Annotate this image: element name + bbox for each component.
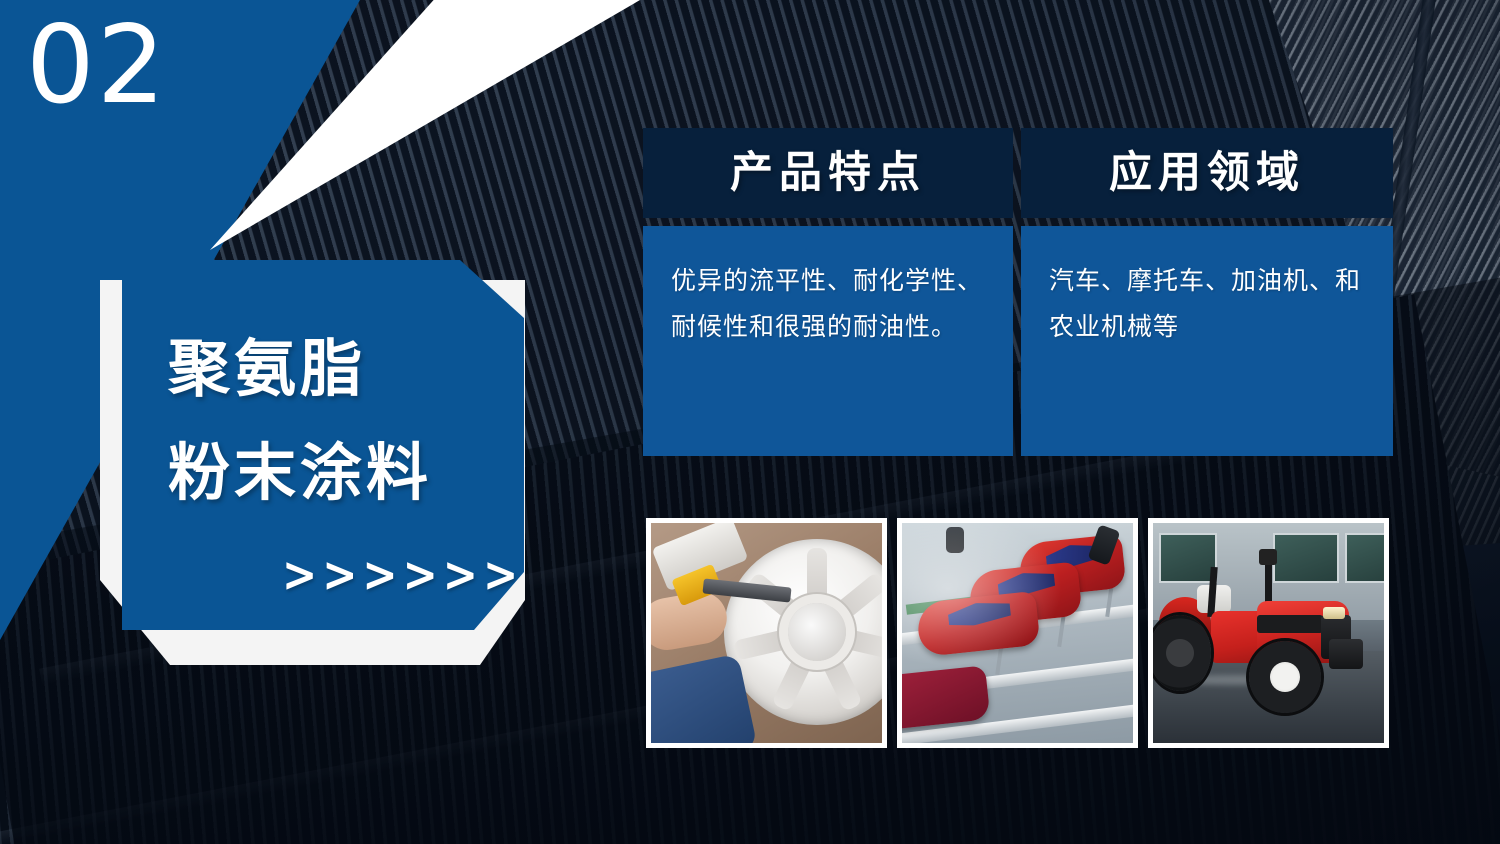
info-cards-group: 产品特点 优异的流平性、耐化学性、耐候性和很强的耐油性。 应用领域 汽车、摩托车… <box>643 128 1393 456</box>
photo1-wheel-hub <box>788 603 846 661</box>
photo3-mirror <box>1265 561 1272 603</box>
photo3-window <box>1345 533 1389 583</box>
card-heading-text: 产品特点 <box>730 152 926 195</box>
section-number: 02 <box>26 12 167 120</box>
title-line-2: 粉末涂料 <box>168 442 432 504</box>
photo3-rear-wheel <box>1149 615 1211 691</box>
photo3-window <box>1159 533 1217 583</box>
title-card-shape: 聚氨脂 粉末涂料 >>>>>>>>> <box>122 260 524 630</box>
photo3-window <box>1273 533 1339 583</box>
photo-strip <box>646 518 1394 748</box>
photo3-front-wheel <box>1249 641 1321 713</box>
card-product-features: 产品特点 优异的流平性、耐化学性、耐候性和很强的耐油性。 <box>643 128 1013 456</box>
card-heading-text: 应用领域 <box>1109 152 1305 195</box>
photo-fuel-tank-coating-line <box>897 518 1138 748</box>
photo-agricultural-tractor <box>1148 518 1389 748</box>
card-body-application-fields: 汽车、摩托车、加油机、和农业机械等 <box>1021 226 1393 456</box>
photo3-wheel-hubcap <box>1270 662 1300 692</box>
photo2-spray-haze <box>902 523 1133 743</box>
card-header-application-fields: 应用领域 <box>1021 128 1393 218</box>
title-line-1: 聚氨脂 <box>168 338 366 400</box>
photo3-headlight <box>1323 607 1345 619</box>
card-body-text: 优异的流平性、耐化学性、耐候性和很强的耐油性。 <box>671 258 987 349</box>
slide-canvas: 02 聚氨脂 粉末涂料 >>>>>>>>> 产品特点 优异的流平性、耐化学性、耐… <box>0 0 1500 844</box>
card-application-fields: 应用领域 汽车、摩托车、加油机、和农业机械等 <box>1021 128 1393 456</box>
card-body-text: 汽车、摩托车、加油机、和农业机械等 <box>1049 258 1367 349</box>
photo3-hood-decal <box>1257 615 1323 633</box>
title-block: 聚氨脂 粉末涂料 >>>>>>>>> <box>100 250 560 670</box>
photo-powder-coating-wheel <box>646 518 887 748</box>
card-header-product-features: 产品特点 <box>643 128 1013 218</box>
photo3-front-hitch <box>1329 639 1363 669</box>
card-body-product-features: 优异的流平性、耐化学性、耐候性和很强的耐油性。 <box>643 226 1013 456</box>
